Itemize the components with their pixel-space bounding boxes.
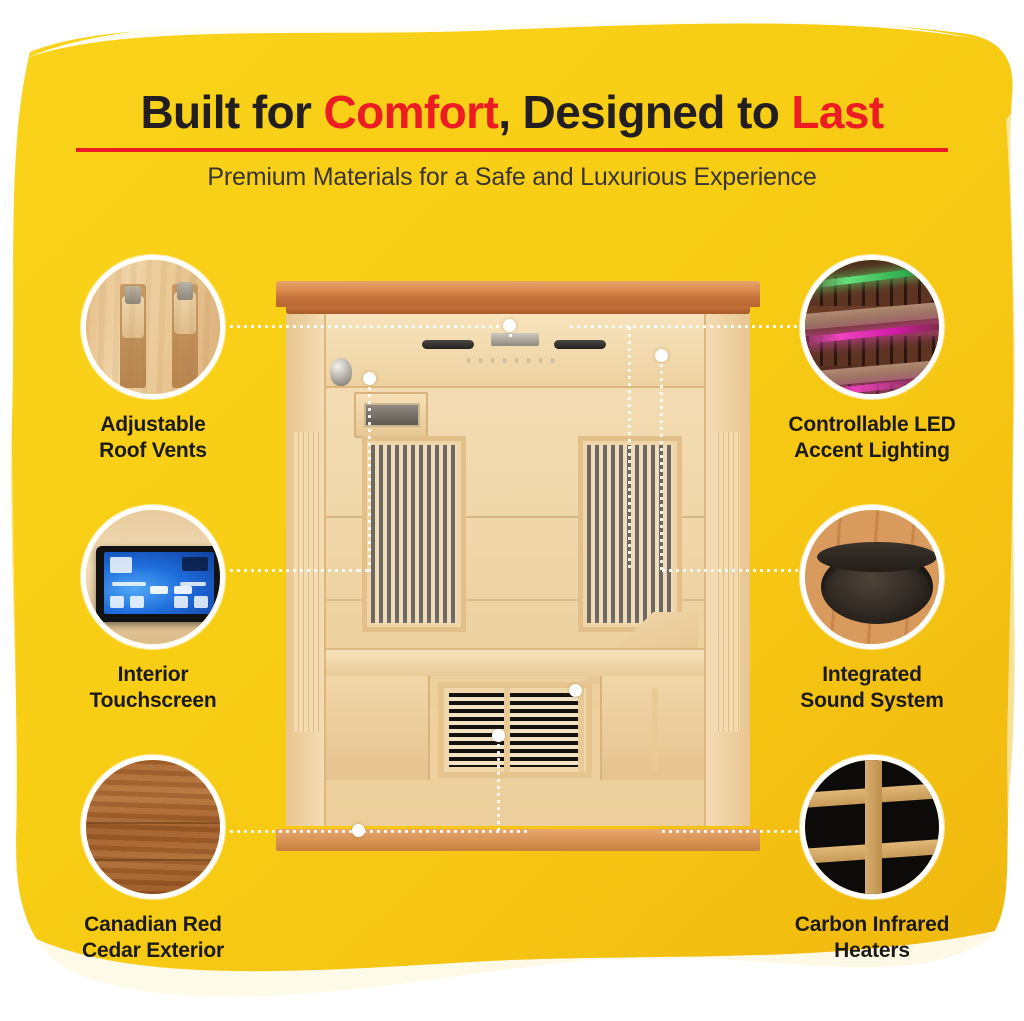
cedar-crown-molding [276, 281, 760, 307]
product-image-sauna [272, 281, 764, 851]
header-block: Built for Comfort, Designed to Last Prem… [0, 88, 1024, 192]
infographic-canvas: Built for Comfort, Designed to Last Prem… [0, 0, 1024, 1021]
speaker-photo-icon [805, 510, 939, 644]
door-slats-right [714, 432, 740, 732]
feature-label-cedar-exterior: Canadian Red Cedar Exterior [33, 912, 273, 963]
label-line-1: Integrated [822, 663, 922, 686]
title-underline-rule [76, 148, 948, 152]
feature-label-led-lighting: Controllable LED Accent Lighting [752, 412, 992, 463]
label-line-2: Accent Lighting [794, 439, 950, 462]
feature-label-sound-system: Integrated Sound System [752, 662, 992, 713]
thumbnail-interior-touchscreen[interactable] [81, 505, 225, 649]
label-line-2: Roof Vents [99, 439, 207, 462]
feature-label-carbon-heaters: Carbon Infrared Heaters [752, 912, 992, 963]
control-panel-screen [364, 403, 420, 427]
feature-integrated-sound-system[interactable]: Integrated Sound System [752, 505, 992, 713]
label-line-2: Touchscreen [90, 689, 217, 712]
cedar-wood-grain-photo-icon [86, 760, 220, 894]
feature-interior-touchscreen[interactable]: Interior Touchscreen [33, 505, 273, 713]
page-subtitle: Premium Materials for a Safe and Luxurio… [0, 163, 1024, 192]
carbon-heater-panel-photo-icon [805, 760, 939, 894]
touchscreen-control-panel-photo-icon [86, 510, 220, 644]
vertical-heater-panel-left [362, 436, 466, 632]
label-line-2: Heaters [834, 939, 910, 962]
label-line-2: Cedar Exterior [82, 939, 224, 962]
ceiling-fixture [491, 333, 539, 346]
feature-adjustable-roof-vents[interactable]: Adjustable Roof Vents [33, 255, 273, 463]
callout-stem-touchscreen [368, 378, 371, 574]
door-slats-left [294, 432, 320, 732]
callout-dot-touchscreen [363, 372, 376, 385]
callout-line-cedar [228, 830, 528, 833]
callout-stem-sound [660, 355, 663, 571]
ceiling-led-strip [467, 358, 563, 363]
label-line-1: Controllable LED [788, 413, 955, 436]
headline-accent-comfort: Comfort [324, 86, 499, 138]
label-line-1: Adjustable [100, 413, 205, 436]
feature-label-roof-vents: Adjustable Roof Vents [33, 412, 273, 463]
ceiling-vent-left [422, 340, 474, 349]
under-bench-heater-grille [438, 682, 592, 778]
feature-carbon-infrared-heaters[interactable]: Carbon Infrared Heaters [752, 755, 992, 963]
callout-link-touchscreen [356, 569, 372, 572]
control-panel-box [354, 392, 428, 438]
callout-dot-cedar [352, 824, 365, 837]
callout-stem-led [628, 325, 631, 569]
callout-dot-heaters [492, 729, 505, 742]
headline-accent-last: Last [791, 86, 883, 138]
ceiling-vent-right [554, 340, 606, 349]
page-title: Built for Comfort, Designed to Last [0, 88, 1024, 136]
thumbnail-sound-system[interactable] [800, 505, 944, 649]
thumbnail-led-lighting[interactable] [800, 255, 944, 399]
roof-vent-sliders-photo-icon [86, 260, 220, 394]
feature-label-interior-touchscreen: Interior Touchscreen [33, 662, 273, 713]
bench-front-left [326, 676, 430, 780]
bench-seat-top [326, 648, 704, 676]
label-line-1: Carbon Infrared [795, 913, 950, 936]
thumbnail-roof-vents[interactable] [81, 255, 225, 399]
label-line-1: Canadian Red [84, 913, 222, 936]
label-line-2: Sound System [800, 689, 943, 712]
headline-segment-1: Built for [140, 86, 323, 138]
thumbnail-cedar-exterior[interactable] [81, 755, 225, 899]
callout-dot-under-bench [569, 684, 582, 697]
callout-dot-sound [655, 349, 668, 362]
callout-dot-roof-vents [503, 319, 516, 332]
led-strip-lighting-photo-icon [805, 260, 939, 394]
label-line-1: Interior [118, 663, 189, 686]
feature-canadian-red-cedar-exterior[interactable]: Canadian Red Cedar Exterior [33, 755, 273, 963]
ceiling-light-dome [330, 358, 352, 386]
feature-controllable-led-accent-lighting[interactable]: Controllable LED Accent Lighting [752, 255, 992, 463]
callout-stem-heaters [497, 735, 500, 831]
headline-segment-2: , Designed to [498, 86, 791, 138]
thumbnail-carbon-heaters[interactable] [800, 755, 944, 899]
